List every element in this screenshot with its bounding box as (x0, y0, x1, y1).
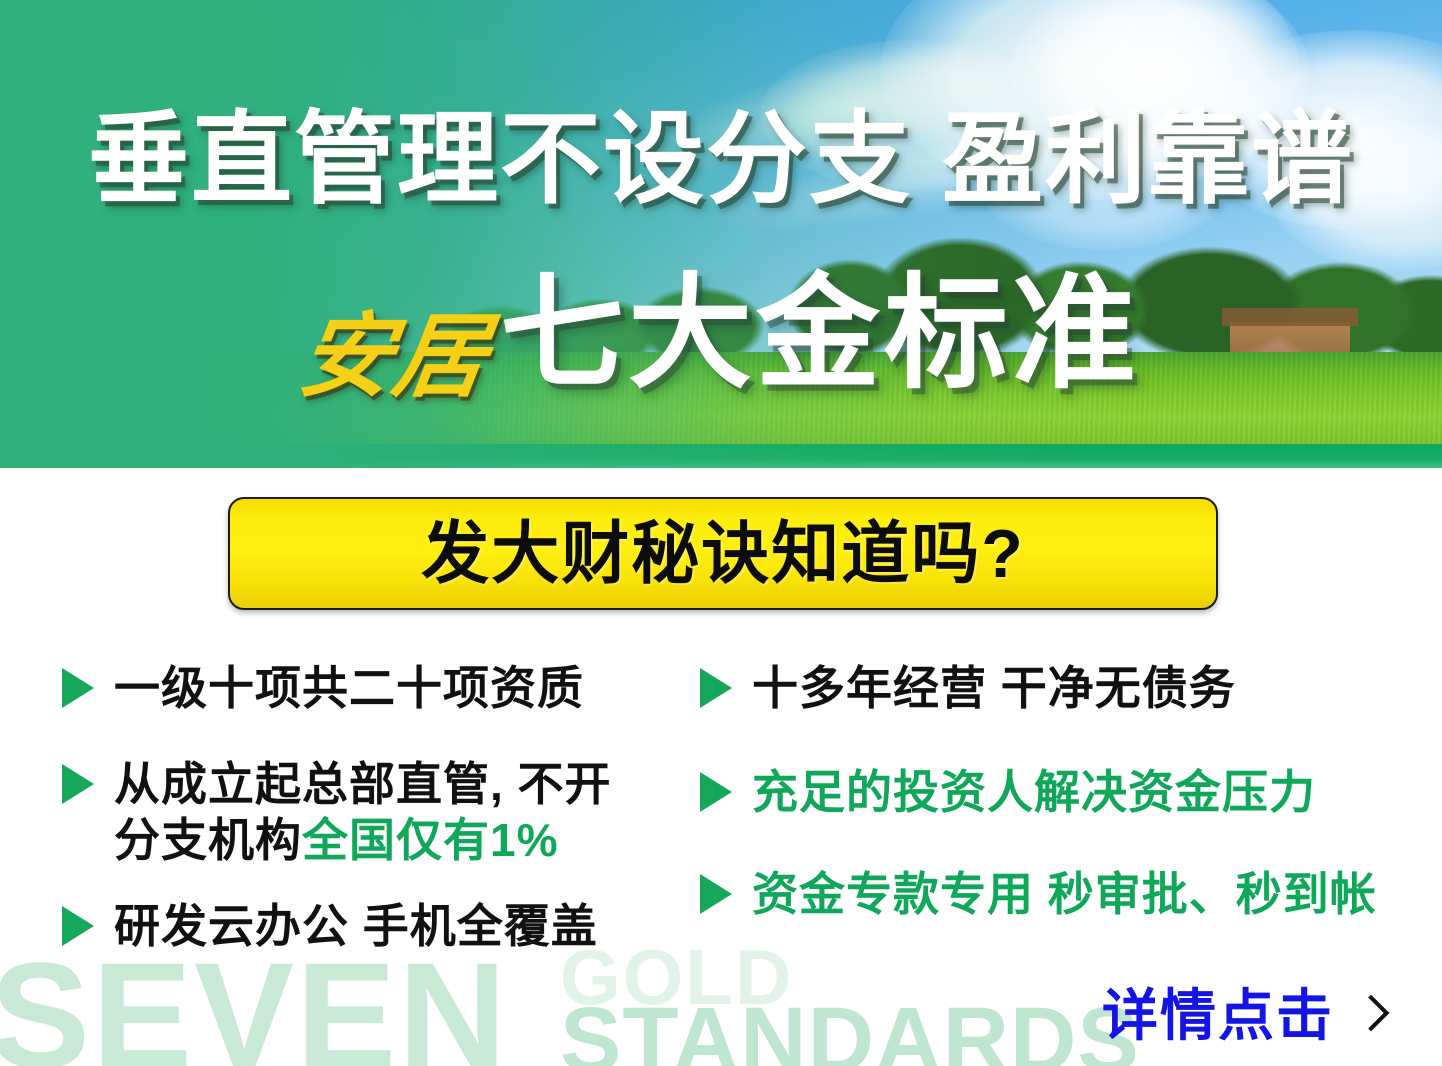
feature-list: 一级十项共二十项资质 从成立起总部直管, 不开 分支机构全国仅有1% 研发云办公… (0, 660, 1442, 980)
feature-label-highlight: 全国仅有1% (302, 814, 558, 866)
detail-link-label: 详情点击 (1102, 988, 1334, 1044)
feature-label: 十多年经营 干净无债务 (752, 660, 1236, 716)
promo-question-text: 发大财秘诀知道吗? (421, 520, 1025, 588)
triangle-bullet-icon (700, 772, 732, 812)
triangle-bullet-icon (700, 874, 732, 914)
list-item: 一级十项共二十项资质 (62, 660, 692, 716)
hero-subheadline-text: 七大金标准 (500, 272, 1140, 396)
hero-brand-text: 安居 (294, 311, 495, 403)
chevron-right-icon (1356, 992, 1382, 1040)
hero-section: 垂直管理不设分支 盈利靠谱 安居七大金标准 (0, 0, 1442, 468)
feature-label: 研发云办公 手机全覆盖 (114, 898, 598, 954)
feature-label: 资金专款专用 秒审批、秒到帐 (752, 866, 1377, 922)
hero-headline-primary: 垂直管理不设分支 盈利靠谱 (0, 110, 1442, 211)
promotional-banner: 垂直管理不设分支 盈利靠谱 安居七大金标准 发大财秘诀知道吗? 一级十项共二十项… (0, 0, 1442, 1066)
feature-label: 一级十项共二十项资质 (114, 660, 584, 716)
triangle-bullet-icon (700, 668, 732, 708)
hero-text-group: 垂直管理不设分支 盈利靠谱 安居七大金标准 (0, 0, 1442, 468)
feature-column-left: 一级十项共二十项资质 从成立起总部直管, 不开 分支机构全国仅有1% 研发云办公… (62, 660, 692, 980)
triangle-bullet-icon (62, 906, 94, 946)
list-item: 研发云办公 手机全覆盖 (62, 898, 692, 954)
feature-label: 从成立起总部直管, 不开 分支机构全国仅有1% (114, 756, 612, 868)
watermark-standards-text: STANDARDS (560, 994, 1140, 1066)
triangle-bullet-icon (62, 668, 94, 708)
feature-column-right: 十多年经营 干净无债务 充足的投资人解决资金压力 资金专款专用 秒审批、秒到帐 (700, 660, 1420, 948)
hero-headline-secondary: 安居七大金标准 (0, 272, 1442, 396)
promo-question-banner[interactable]: 发大财秘诀知道吗? (228, 497, 1218, 610)
detail-link[interactable]: 详情点击 (1102, 988, 1382, 1044)
list-item: 十多年经营 干净无债务 (700, 660, 1420, 716)
triangle-bullet-icon (62, 764, 94, 804)
feature-label: 充足的投资人解决资金压力 (752, 764, 1316, 820)
feature-label-line2-plain: 分支机构 (114, 814, 302, 866)
feature-label-line1: 从成立起总部直管, 不开 (114, 758, 612, 810)
list-item: 从成立起总部直管, 不开 分支机构全国仅有1% (62, 756, 692, 868)
list-item: 资金专款专用 秒审批、秒到帐 (700, 866, 1420, 922)
list-item: 充足的投资人解决资金压力 (700, 764, 1420, 820)
